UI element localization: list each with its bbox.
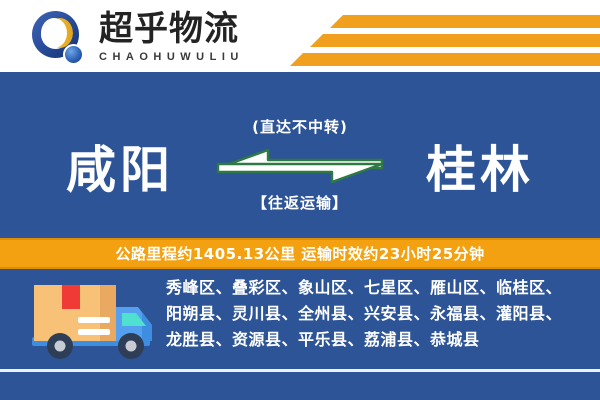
circle-crescent-logo-icon: [32, 11, 90, 63]
header-stripe-3: [290, 53, 600, 66]
banner-header: 超乎物流 CHAOHUWULIU: [0, 0, 600, 72]
double-arrow-icon: [210, 142, 390, 186]
district-row: 秀峰区、叠彩区、象山区、七星区、雁山区、临桂区、: [166, 275, 586, 301]
route-middle: (直达不中转) 【往返运输】: [210, 110, 390, 230]
district-coverage-list: 秀峰区、叠彩区、象山区、七星区、雁山区、临桂区、 阳朔县、灵川县、全州县、兴安县…: [166, 275, 586, 353]
header-stripe-2: [310, 34, 600, 47]
main-panel: 咸阳 (直达不中转) 【往返运输】 桂林 公路里程约1405.13公里 运输时效…: [0, 72, 600, 400]
direct-shipping-tag: (直达不中转): [210, 116, 390, 137]
route-info-bar: 公路里程约1405.13公里 运输时效约23小时25分钟: [0, 238, 600, 269]
brand-wordmark: 超乎物流 CHAOHUWULIU: [99, 9, 269, 64]
district-row: 阳朔县、灵川县、全州县、兴安县、永福县、灌阳县、: [166, 301, 586, 327]
district-row: 龙胜县、资源县、平乐县、荔浦县、恭城县: [166, 327, 586, 353]
route-row: 咸阳 (直达不中转) 【往返运输】 桂林: [0, 110, 600, 230]
roundtrip-shipping-tag: 【往返运输】: [210, 192, 390, 213]
route-info-text: 公路里程约1405.13公里 运输时效约23小时25分钟: [115, 243, 484, 264]
logistics-route-banner: 超乎物流 CHAOHUWULIU 咸阳 (直达不中转) 【往返运输】: [0, 0, 600, 400]
logo-crescent-cutout: [41, 18, 67, 48]
brand-name-en: CHAOHUWULIU: [99, 50, 269, 64]
logo-dot: [63, 44, 84, 65]
delivery-truck-icon: [30, 279, 156, 363]
origin-city: 咸阳: [20, 110, 220, 230]
panel-divider: [0, 369, 600, 372]
destination-city: 桂林: [380, 110, 580, 230]
brand-name-cn: 超乎物流: [99, 9, 269, 49]
header-stripe-1: [330, 15, 600, 28]
